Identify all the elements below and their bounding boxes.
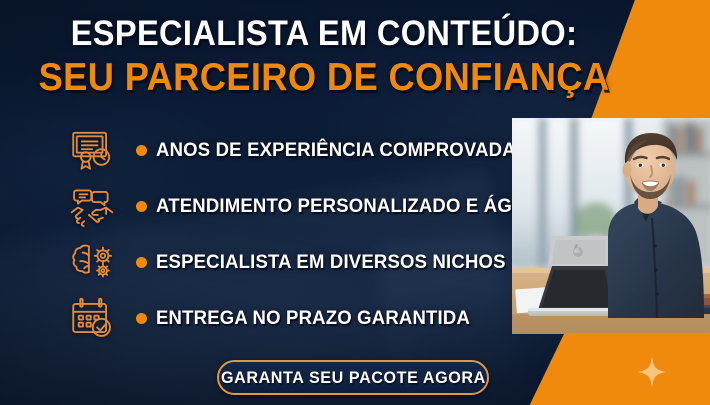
feature-item: ATENDIMENTO PERSONALIZADO E ÁGIL — [62, 178, 582, 234]
feature-item: ANOS DE EXPERIÊNCIA COMPROVADA — [62, 122, 582, 178]
headline-line-2: SEU PARCEIRO DE CONFIANÇA — [23, 58, 626, 97]
bullet-dot — [136, 313, 147, 324]
headline: ESPECIALISTA EM CONTEÚDO: SEU PARCEIRO D… — [0, 16, 648, 97]
headline-line-1: ESPECIALISTA EM CONTEÚDO: — [23, 16, 626, 51]
feature-label: ESPECIALISTA EM DIVERSOS NICHOS — [156, 251, 506, 274]
feature-label: ENTREGA NO PRAZO GARANTIDA — [156, 307, 470, 330]
feature-item: ESPECIALISTA EM DIVERSOS NICHOS — [62, 234, 582, 290]
feature-label: ATENDIMENTO PERSONALIZADO E ÁGIL — [156, 195, 529, 218]
feature-list: ANOS DE EXPERIÊNCIA COMPROVADA — [62, 122, 582, 346]
feature-item: ENTREGA NO PRAZO GARANTIDA — [62, 290, 582, 346]
smiling-man-with-laptop-photo — [512, 118, 710, 334]
feature-label: ANOS DE EXPERIÊNCIA COMPROVADA — [156, 139, 516, 162]
promotional-banner: ESPECIALISTA EM CONTEÚDO: SEU PARCEIRO D… — [0, 0, 710, 405]
bullet-dot — [136, 145, 147, 156]
bullet-dot — [136, 257, 147, 268]
certificate-clock-icon — [62, 123, 122, 177]
brain-gears-icon — [62, 235, 122, 289]
sparkle-icon — [638, 356, 666, 388]
cta-button-label: GARANTA SEU PACOTE AGORA — [221, 368, 486, 388]
handshake-chat-icon — [62, 179, 122, 233]
cta-button[interactable]: GARANTA SEU PACOTE AGORA — [217, 360, 489, 395]
calendar-check-icon — [62, 291, 122, 345]
bullet-dot — [136, 201, 147, 212]
